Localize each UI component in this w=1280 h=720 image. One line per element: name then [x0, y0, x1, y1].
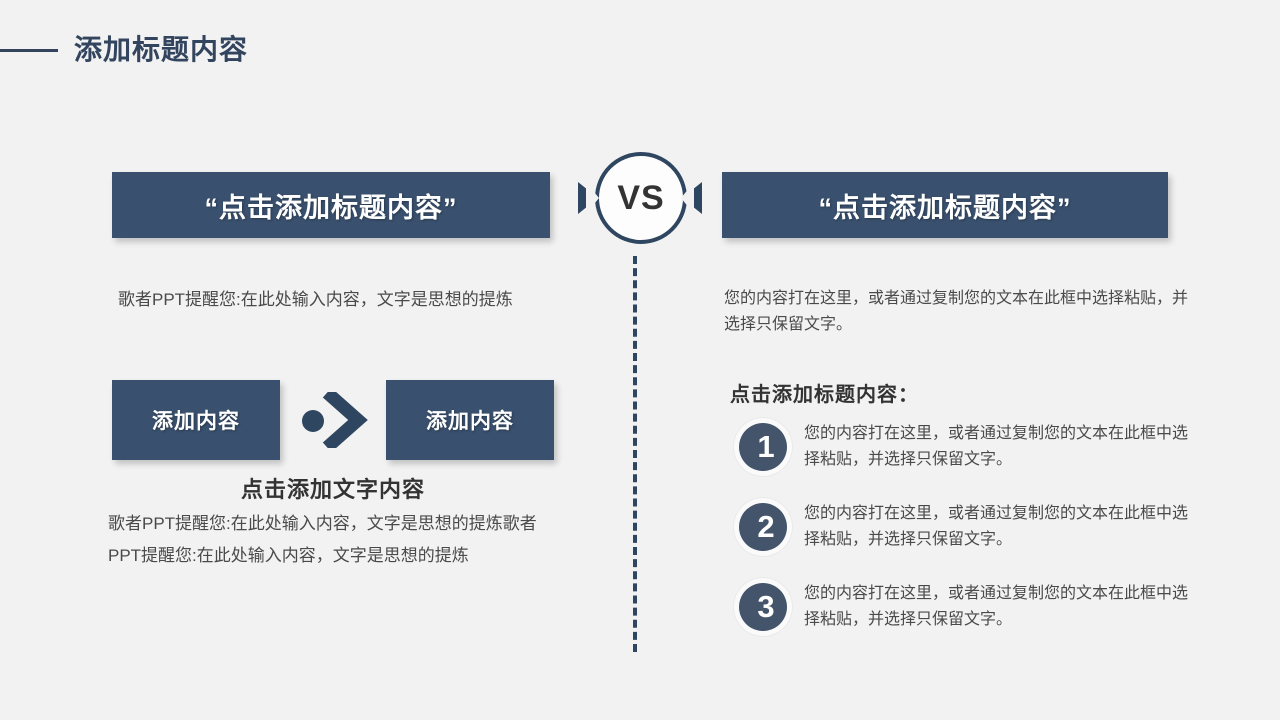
add-content-button-2-label: 添加内容	[426, 405, 514, 435]
add-content-button-1-label: 添加内容	[152, 405, 240, 435]
left-paragraph-1: 歌者PPT提醒您:在此处输入内容，文字是思想的提炼	[118, 284, 548, 316]
vs-badge: VS	[578, 152, 702, 260]
add-content-button-2[interactable]: 添加内容	[386, 380, 554, 460]
arrow-left-notch-icon	[681, 182, 694, 214]
right-paragraph: 您的内容打在这里，或者通过复制您的文本在此框中选择粘贴，并选择只保留文字。	[724, 286, 1194, 338]
slide-canvas: 添加标题内容 “点击添加标题内容” “点击添加标题内容” VS 歌者PPT提醒您…	[0, 0, 1280, 720]
right-banner-label: “点击添加标题内容”	[819, 186, 1072, 225]
list-item[interactable]: 2 您的内容打在这里，或者通过复制您的文本在此框中选择粘贴，并选择只保留文字。	[734, 498, 1194, 556]
title-accent-rule	[0, 49, 58, 52]
vs-label: VS	[617, 181, 664, 215]
number-badge-label: 3	[757, 591, 774, 622]
left-banner[interactable]: “点击添加标题内容”	[112, 172, 550, 238]
vertical-dashed-divider	[633, 256, 637, 652]
vs-circle: VS	[595, 152, 687, 244]
number-badge-icon: 1	[734, 418, 792, 476]
list-item[interactable]: 1 您的内容打在这里，或者通过复制您的文本在此框中选择粘贴，并选择只保留文字。	[734, 418, 1194, 476]
page-title: 添加标题内容	[74, 28, 248, 68]
number-badge-icon: 2	[734, 498, 792, 556]
add-content-button-1[interactable]: 添加内容	[112, 380, 280, 460]
list-item[interactable]: 3 您的内容打在这里，或者通过复制您的文本在此框中选择粘贴，并选择只保留文字。	[734, 578, 1194, 636]
right-banner[interactable]: “点击添加标题内容”	[722, 172, 1168, 238]
list-item-text: 您的内容打在这里，或者通过复制您的文本在此框中选择粘贴，并选择只保留文字。	[804, 581, 1194, 633]
dot-chevron-right-icon	[300, 392, 370, 448]
list-item-text: 您的内容打在这里，或者通过复制您的文本在此框中选择粘贴，并选择只保留文字。	[804, 421, 1194, 473]
arrow-right-notch-icon	[586, 182, 599, 214]
left-banner-label: “点击添加标题内容”	[205, 186, 458, 225]
list-item-text: 您的内容打在这里，或者通过复制您的文本在此框中选择粘贴，并选择只保留文字。	[804, 501, 1194, 553]
number-badge-icon: 3	[734, 578, 792, 636]
left-paragraph-2: 歌者PPT提醒您:在此处输入内容，文字是思想的提炼歌者PPT提醒您:在此处输入内…	[108, 508, 556, 572]
numbered-list: 1 您的内容打在这里，或者通过复制您的文本在此框中选择粘贴，并选择只保留文字。 …	[734, 418, 1194, 658]
left-sub-title: 点击添加文字内容	[112, 472, 554, 504]
left-button-row: 添加内容 添加内容	[112, 380, 554, 460]
right-heading: 点击添加标题内容：	[730, 378, 919, 407]
number-badge-label: 1	[757, 431, 774, 462]
number-badge-label: 2	[757, 511, 774, 542]
